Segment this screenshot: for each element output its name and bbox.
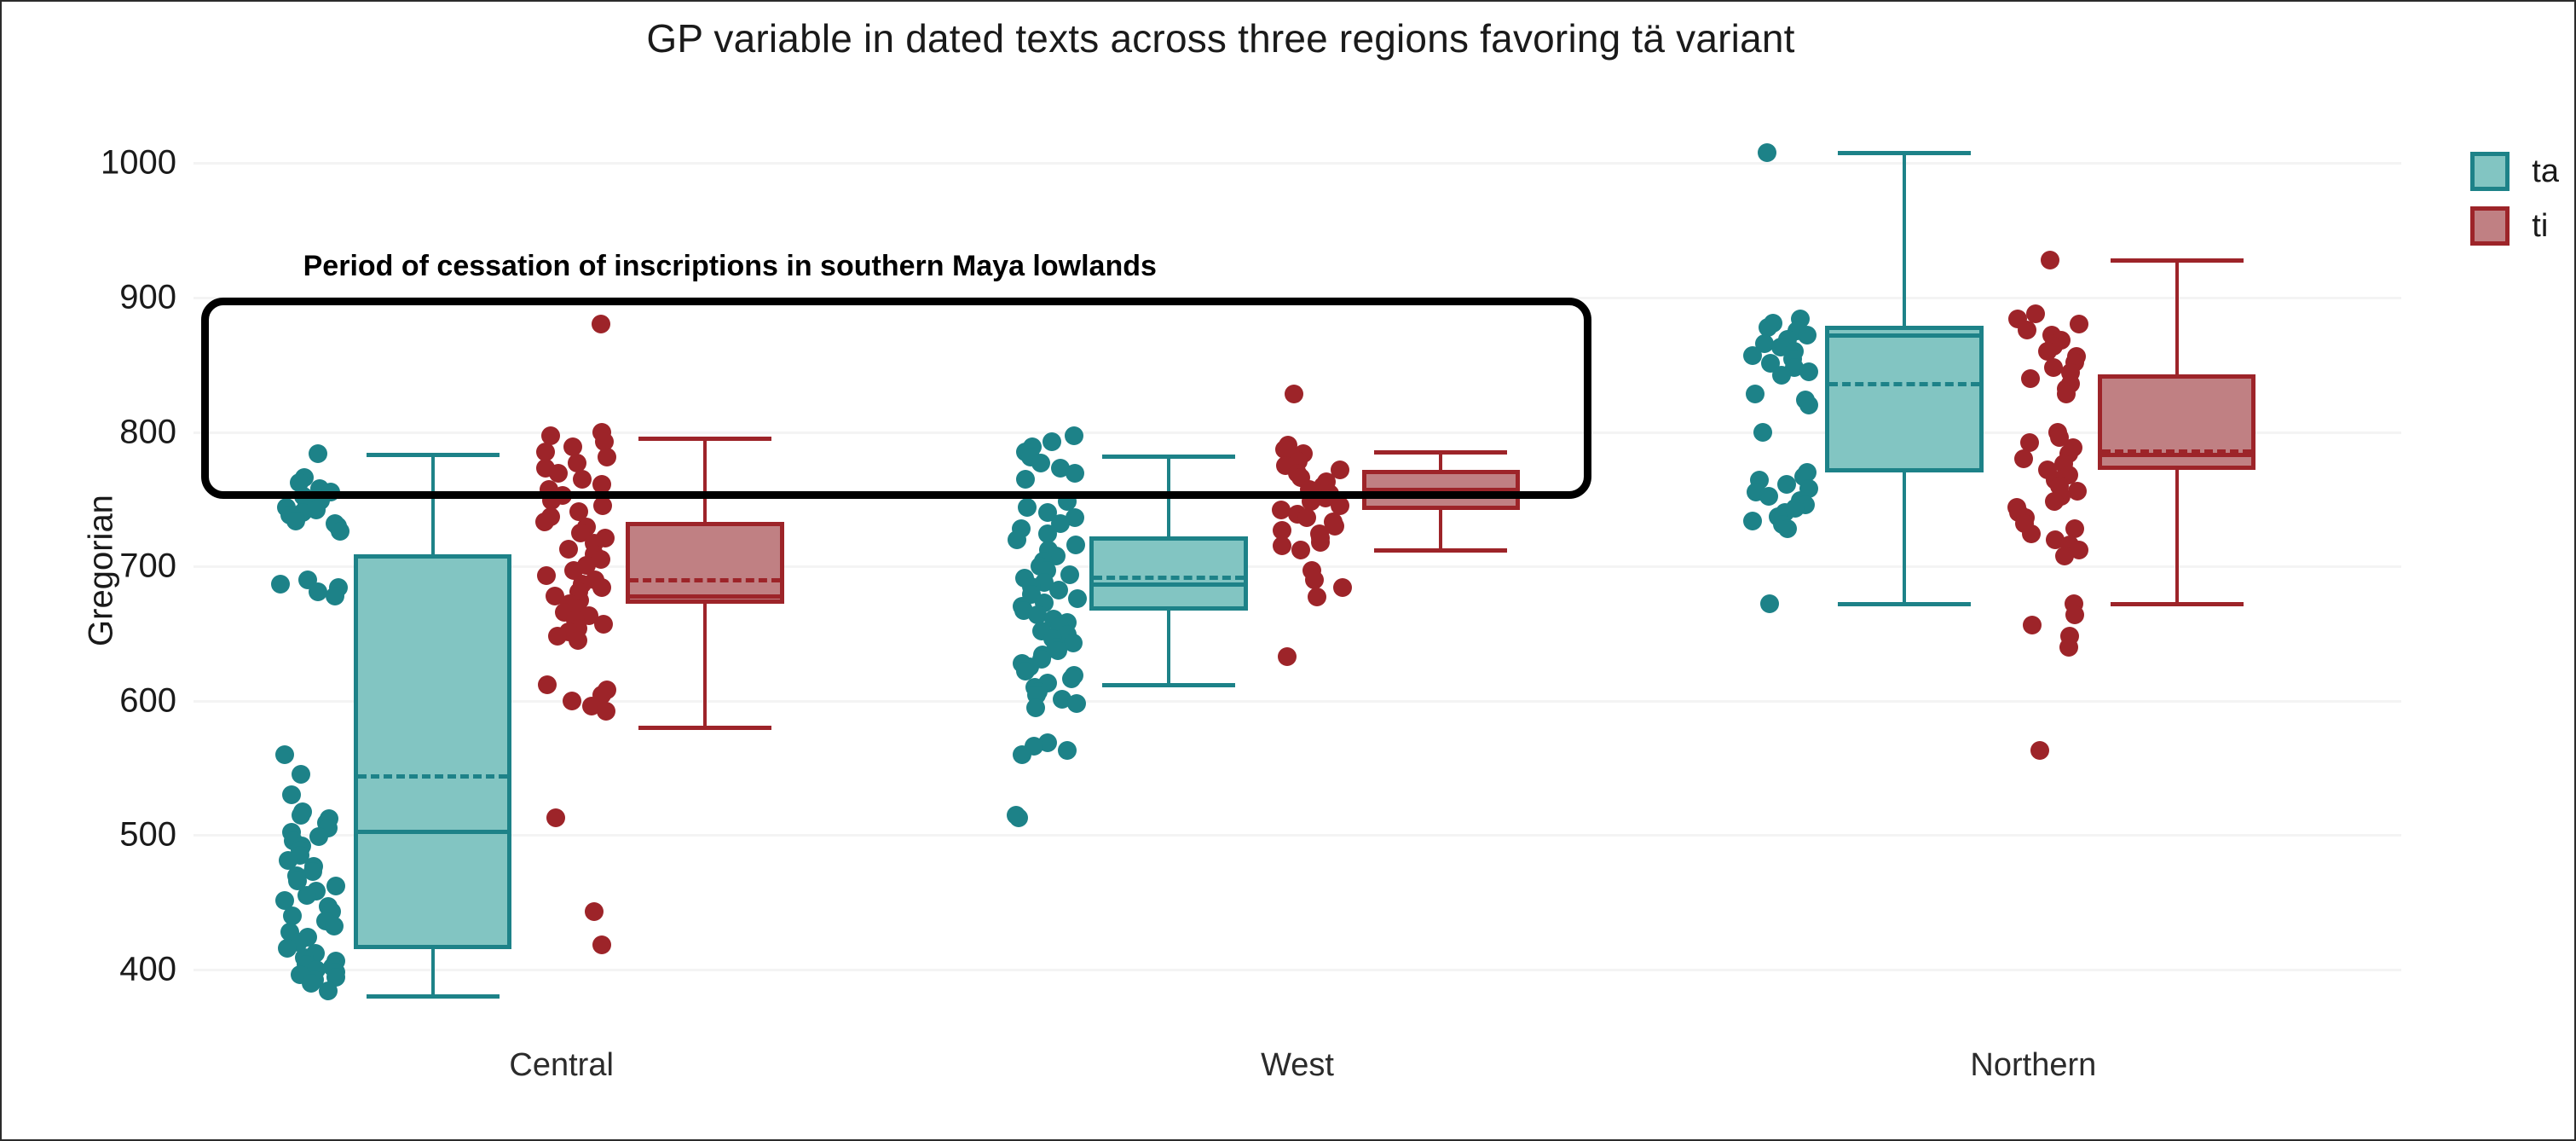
jitter-point xyxy=(592,578,611,597)
jitter-point xyxy=(2018,321,2036,339)
jitter-point xyxy=(1743,346,1762,365)
whisker-cap xyxy=(1838,602,1971,606)
jitter-point xyxy=(1008,530,1026,549)
jitter-point xyxy=(1758,143,1776,162)
jitter-point xyxy=(286,512,305,530)
y-axis-tick-label: 1000 xyxy=(101,144,176,182)
mean-line xyxy=(358,774,508,779)
gridline xyxy=(193,565,2401,568)
jitter-point xyxy=(325,917,344,935)
legend-item[interactable]: ti xyxy=(2470,206,2559,246)
y-axis-label: Gregorian xyxy=(82,495,120,646)
whisker-cap xyxy=(2111,258,2244,263)
jitter-point xyxy=(1026,698,1045,717)
x-axis-tick-label: West xyxy=(1261,1047,1334,1084)
jitter-point xyxy=(1308,588,1326,606)
chart-figure: GP variable in dated texts across three … xyxy=(0,0,2576,1141)
box xyxy=(1089,536,1248,611)
jitter-point xyxy=(1009,808,1028,827)
jitter-point xyxy=(1062,669,1081,688)
jitter-point xyxy=(2014,449,2033,468)
whisker-cap xyxy=(638,726,771,730)
jitter-point xyxy=(592,935,611,954)
jitter-point xyxy=(2041,251,2059,269)
jitter-point xyxy=(1058,741,1077,760)
jitter-point xyxy=(1273,536,1291,555)
jitter-point xyxy=(297,886,316,905)
y-axis-tick-label: 800 xyxy=(119,413,176,451)
jitter-point xyxy=(1759,318,1777,337)
jitter-point xyxy=(1305,570,1324,589)
jitter-point xyxy=(559,540,578,559)
box xyxy=(354,554,512,949)
whisker-cap xyxy=(1838,151,1971,155)
jitter-point xyxy=(1311,533,1330,552)
jitter-point xyxy=(1066,536,1085,554)
y-axis-tick-label: 400 xyxy=(119,950,176,988)
jitter-point xyxy=(292,806,310,825)
jitter-point xyxy=(2055,547,2074,565)
chart-legend: tati xyxy=(2470,152,2559,261)
jitter-point xyxy=(331,522,349,541)
jitter-point xyxy=(1799,362,1818,381)
chart-title: GP variable in dated texts across three … xyxy=(2,15,2440,61)
jitter-point xyxy=(2021,369,2040,388)
whisker-cap xyxy=(1374,548,1507,553)
legend-label: ta xyxy=(2532,153,2559,190)
jitter-point xyxy=(1013,745,1031,764)
jitter-point xyxy=(309,582,327,601)
jitter-point xyxy=(275,745,294,764)
jitter-point xyxy=(2030,741,2049,760)
jitter-point xyxy=(282,785,301,804)
jitter-point xyxy=(1018,498,1037,517)
jitter-point xyxy=(1760,594,1779,613)
jitter-point xyxy=(593,496,612,515)
mean-line xyxy=(1094,576,1244,580)
jitter-point xyxy=(326,877,345,895)
jitter-point xyxy=(2070,315,2088,333)
jitter-point xyxy=(563,692,581,710)
jitter-point xyxy=(1772,366,1791,385)
jitter-point xyxy=(1746,385,1765,403)
jitter-point xyxy=(535,513,554,531)
jitter-point xyxy=(546,808,565,827)
jitter-point xyxy=(1067,694,1086,713)
jitter-point xyxy=(1278,647,1297,666)
jitter-point xyxy=(1333,578,1352,597)
gridline xyxy=(193,700,2401,703)
annotation-label: Period of cessation of inscriptions in s… xyxy=(303,250,1157,283)
jitter-point xyxy=(2065,605,2084,624)
jitter-point xyxy=(1060,565,1079,584)
y-axis-tick-label: 600 xyxy=(119,681,176,720)
gridline xyxy=(193,969,2401,971)
jitter-point xyxy=(537,566,556,585)
jitter-point xyxy=(2068,482,2087,501)
jitter-point xyxy=(2057,385,2076,403)
box xyxy=(1825,326,1984,472)
whisker-cap xyxy=(1102,683,1235,687)
jitter-point xyxy=(292,765,310,784)
x-axis-tick-label: Central xyxy=(509,1047,614,1084)
jitter-point xyxy=(2059,638,2078,657)
jitter-point xyxy=(1798,326,1816,345)
jitter-point xyxy=(1778,519,1797,538)
jitter-point xyxy=(1743,512,1762,530)
jitter-point xyxy=(1297,508,1316,527)
jitter-point xyxy=(594,615,613,634)
jitter-point xyxy=(309,827,328,846)
jitter-point xyxy=(1068,589,1087,608)
jitter-point xyxy=(319,982,338,1000)
jitter-point xyxy=(1759,487,1778,506)
gridline xyxy=(193,162,2401,165)
x-axis-tick-label: Northern xyxy=(1970,1047,2096,1084)
jitter-point xyxy=(538,675,557,694)
jitter-point xyxy=(585,902,604,921)
y-axis-tick-label: 900 xyxy=(119,278,176,316)
mean-line xyxy=(2102,449,2252,454)
jitter-point xyxy=(597,702,615,721)
jitter-point xyxy=(1049,581,1068,599)
annotation-box xyxy=(201,298,1592,499)
jitter-point xyxy=(1291,541,1310,559)
whisker-cap xyxy=(2111,602,2244,606)
jitter-point xyxy=(2044,358,2063,377)
jitter-point xyxy=(1753,423,1772,442)
mean-line xyxy=(1829,382,1979,386)
jitter-point xyxy=(326,587,344,605)
y-axis-tick-label: 500 xyxy=(119,816,176,854)
y-axis-tick-label: 700 xyxy=(119,547,176,586)
median-line xyxy=(1089,582,1248,587)
legend-swatch-ta xyxy=(2470,152,2510,191)
jitter-point xyxy=(271,575,290,594)
jitter-point xyxy=(2022,524,2041,543)
median-line xyxy=(354,830,512,834)
mean-line xyxy=(630,578,780,582)
median-line xyxy=(2098,453,2256,457)
whisker-cap xyxy=(367,994,500,999)
jitter-point xyxy=(2045,492,2064,511)
box xyxy=(626,522,784,604)
jitter-point xyxy=(302,974,321,993)
jitter-point xyxy=(548,627,567,646)
median-line xyxy=(626,594,784,599)
jitter-point xyxy=(2023,616,2042,634)
jitter-point xyxy=(569,631,587,650)
jitter-point xyxy=(278,939,297,958)
median-line xyxy=(1825,333,1984,338)
legend-label: ti xyxy=(2532,208,2548,245)
legend-item[interactable]: ta xyxy=(2470,152,2559,191)
jitter-point xyxy=(1777,475,1796,494)
gridline xyxy=(193,834,2401,837)
jitter-point xyxy=(1799,396,1818,414)
legend-swatch-ti xyxy=(2470,206,2510,246)
